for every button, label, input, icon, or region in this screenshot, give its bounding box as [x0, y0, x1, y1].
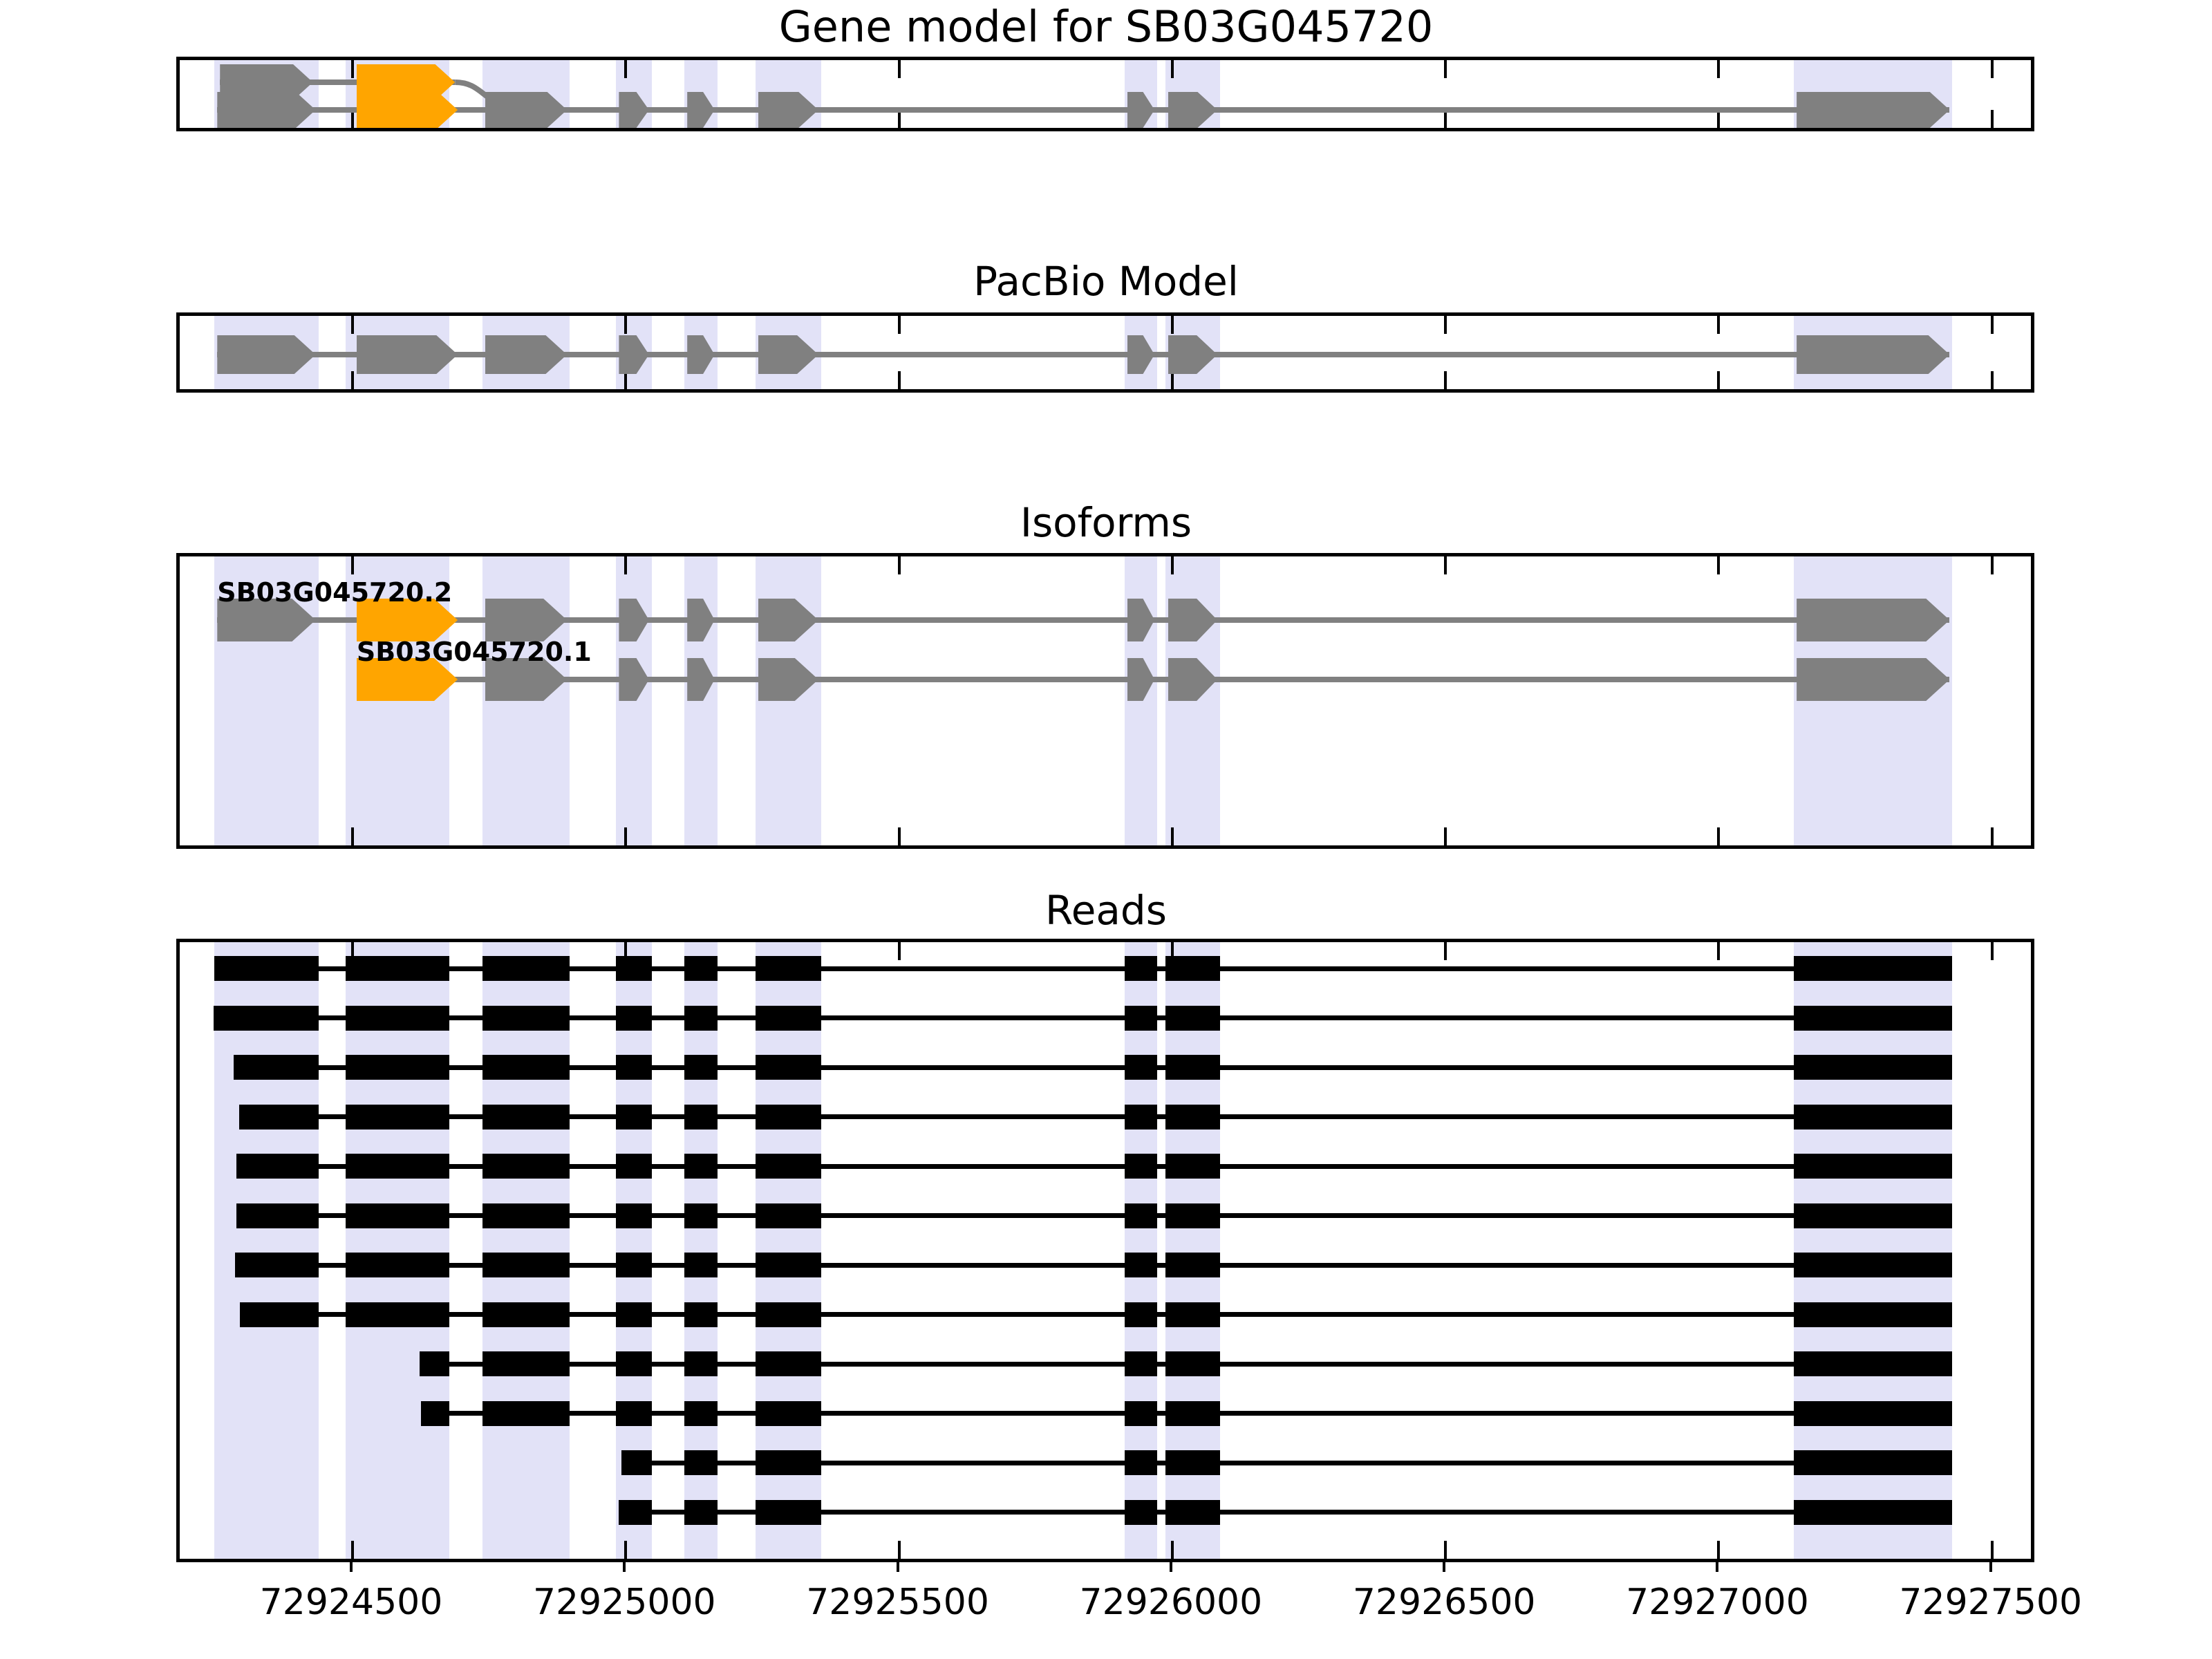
exon-block — [485, 599, 568, 641]
read-exon-block — [235, 1253, 318, 1277]
read-exon-block — [1165, 1351, 1220, 1376]
exon-arrow-shape — [687, 599, 715, 641]
read-exon-block — [616, 1302, 651, 1327]
exon-block — [1168, 658, 1217, 701]
read-exon-block — [214, 1006, 319, 1031]
panel-tick-mark — [351, 1541, 354, 1559]
highlight-band — [346, 942, 449, 1559]
axis-tick-label: 72925500 — [806, 1582, 989, 1623]
exon-block — [758, 335, 818, 374]
exon-arrow-shape — [1168, 658, 1217, 701]
read-exon-block — [756, 1203, 821, 1228]
read-exon-block — [684, 1500, 717, 1525]
panel-tick-mark — [1717, 1541, 1720, 1559]
panel-tick-mark — [1991, 942, 1994, 960]
plot-area-reads — [180, 942, 2031, 1559]
panel-tick-mark — [1991, 827, 1994, 845]
exon-arrow-shape — [619, 335, 648, 374]
read-exon-block — [1125, 1203, 1157, 1228]
read-exon-block — [1165, 1154, 1220, 1179]
exon-block — [619, 599, 648, 641]
read-exon-block — [1794, 1450, 1952, 1475]
read-exon-block — [1794, 1500, 1952, 1525]
panel-tick-mark — [351, 371, 354, 389]
panel-tick-mark — [1717, 371, 1720, 389]
exon-block — [357, 335, 458, 374]
panel-tick-mark — [898, 371, 901, 389]
panel-tick-mark — [1717, 942, 1720, 960]
panel-tick-mark — [1444, 556, 1447, 574]
axis-tick-label: 72925000 — [533, 1582, 716, 1623]
panel-tick-mark — [1717, 827, 1720, 845]
exon-arrow-shape — [485, 335, 568, 374]
panel-tick-mark — [898, 316, 901, 334]
exon-block — [1127, 599, 1155, 641]
axis-tick — [1443, 1562, 1445, 1572]
exon-block — [1168, 335, 1217, 374]
read-exon-block — [482, 1055, 570, 1080]
read-exon-block — [482, 1006, 570, 1031]
axis-tick — [350, 1562, 353, 1572]
exon-arrow-shape — [1797, 599, 1949, 641]
panel-tick-mark — [898, 1541, 901, 1559]
exon-block — [687, 335, 715, 374]
read-exon-block — [482, 1253, 570, 1277]
exon-arrow-shape — [1168, 599, 1217, 641]
read-exon-block — [756, 1450, 821, 1475]
exon-arrow-shape — [758, 658, 818, 701]
read-exon-block — [1125, 1055, 1157, 1080]
read-exon-block — [1125, 1105, 1157, 1130]
panel-tick-mark — [1171, 556, 1174, 574]
exon-arrow-shape — [758, 599, 818, 641]
read-exon-block — [1165, 1302, 1220, 1327]
read-exon-block — [616, 1351, 651, 1376]
exon-block — [485, 335, 568, 374]
read-exon-block — [756, 1154, 821, 1179]
read-exon-block — [236, 1203, 319, 1228]
read-exon-block — [1794, 956, 1952, 981]
read-intron-line — [214, 1015, 1953, 1020]
exon-arrow-shape — [1168, 335, 1217, 374]
read-exon-block — [346, 1203, 449, 1228]
axis-tick-label: 72926500 — [1353, 1582, 1536, 1623]
panel-tick-mark — [1991, 371, 1994, 389]
figure-canvas: Gene model for SB03G045720 PacBio Model … — [0, 0, 2212, 1659]
read-exon-block — [1794, 1253, 1952, 1277]
isoform-label: SB03G045720.2 — [217, 577, 452, 608]
panel-tick-mark — [351, 316, 354, 334]
read-exon-block — [1165, 1203, 1220, 1228]
exon-block — [758, 599, 818, 641]
read-exon-block — [482, 1105, 570, 1130]
panel-tick-mark — [1444, 1541, 1447, 1559]
panel-title-pacbio: PacBio Model — [0, 261, 2212, 301]
panel-tick-mark — [1444, 827, 1447, 845]
read-exon-block — [214, 956, 318, 981]
read-exon-block — [616, 1105, 651, 1130]
read-exon-block — [482, 1203, 570, 1228]
exon-block — [1797, 335, 1949, 374]
read-exon-block — [616, 1401, 651, 1426]
panel-tick-mark — [1991, 556, 1994, 574]
exon-arrow-shape — [1127, 658, 1155, 701]
read-exon-block — [621, 1450, 651, 1475]
read-intron-line — [214, 966, 1952, 971]
plot-area-isoforms: SB03G045720.2SB03G045720.1 — [180, 556, 2031, 845]
plot-area-gene-model — [180, 60, 2031, 128]
panel-tick-mark — [1717, 316, 1720, 334]
panel-gene-model — [176, 57, 2034, 131]
panel-title-isoforms: Isoforms — [0, 503, 2212, 543]
read-exon-block — [684, 1105, 717, 1130]
highlight-band — [214, 942, 318, 1559]
exon-arrow-shape — [1127, 599, 1155, 641]
read-exon-block — [346, 1302, 449, 1327]
read-exon-block — [1125, 1351, 1157, 1376]
exon-arrow-shape — [485, 599, 568, 641]
read-exon-block — [1125, 1302, 1157, 1327]
plot-area-pacbio-model — [180, 316, 2031, 389]
exon-block — [619, 658, 648, 701]
panel-tick-mark — [1171, 316, 1174, 334]
read-exon-block — [1125, 956, 1157, 981]
panel-tick-mark — [1171, 827, 1174, 845]
read-exon-block — [1794, 1351, 1952, 1376]
panel-tick-mark — [1991, 1541, 1994, 1559]
axis-tick — [1716, 1562, 1718, 1572]
read-exon-block — [616, 956, 651, 981]
read-exon-block — [1125, 1154, 1157, 1179]
read-exon-block — [1794, 1006, 1952, 1031]
axis-tick-label: 72927000 — [1626, 1582, 1809, 1623]
read-exon-block — [616, 1055, 651, 1080]
exon-block — [1168, 599, 1217, 641]
panel-tick-mark — [624, 316, 627, 334]
read-exon-block — [1165, 1105, 1220, 1130]
exon-block — [687, 658, 715, 701]
axis-tick-label: 72924500 — [260, 1582, 443, 1623]
panel-tick-mark — [624, 827, 627, 845]
axis-tick-label: 72926000 — [1080, 1582, 1263, 1623]
exon-arrow-shape — [1797, 335, 1949, 374]
read-exon-block — [616, 1006, 651, 1031]
axis-tick — [623, 1562, 626, 1572]
read-exon-block — [756, 1351, 821, 1376]
read-exon-block — [1794, 1203, 1952, 1228]
read-exon-block — [421, 1401, 449, 1426]
read-exon-block — [346, 1006, 449, 1031]
read-exon-block — [1165, 956, 1220, 981]
read-exon-block — [482, 1351, 570, 1376]
read-exon-block — [684, 1401, 717, 1426]
intron-line — [217, 617, 1949, 623]
panel-tick-mark — [898, 556, 901, 574]
read-exon-block — [684, 1006, 717, 1031]
exon-arrow-shape — [687, 335, 715, 374]
panel-tick-mark — [351, 556, 354, 574]
read-exon-block — [756, 956, 821, 981]
panel-tick-mark — [1717, 556, 1720, 574]
read-exon-block — [420, 1351, 449, 1376]
exon-block — [758, 658, 818, 701]
exon-block — [217, 335, 315, 374]
panel-pacbio-model — [176, 312, 2034, 393]
read-exon-block — [1794, 1401, 1952, 1426]
panel-reads — [176, 939, 2034, 1562]
read-exon-block — [1794, 1055, 1952, 1080]
read-exon-block — [684, 956, 717, 981]
read-exon-block — [616, 1203, 651, 1228]
panel-tick-mark — [1444, 371, 1447, 389]
read-exon-block — [756, 1105, 821, 1130]
read-exon-block — [236, 1154, 319, 1179]
axis-tick — [1989, 1562, 1992, 1572]
read-exon-block — [684, 1055, 717, 1080]
exon-arrow-shape — [619, 658, 648, 701]
panel-tick-mark — [1444, 942, 1447, 960]
read-exon-block — [234, 1055, 319, 1080]
read-exon-block — [239, 1105, 319, 1130]
isoform-label: SB03G045720.1 — [357, 637, 592, 667]
read-exon-block — [1165, 1055, 1220, 1080]
splice-connector — [180, 60, 2034, 131]
exon-block — [619, 335, 648, 374]
read-exon-block — [482, 1154, 570, 1179]
read-exon-block — [756, 1401, 821, 1426]
read-exon-block — [240, 1302, 319, 1327]
read-exon-block — [482, 1401, 570, 1426]
intron-line — [217, 352, 1949, 357]
exon-arrow-shape — [1127, 335, 1155, 374]
panel-tick-mark — [624, 556, 627, 574]
read-exon-block — [756, 1302, 821, 1327]
read-exon-block — [684, 1154, 717, 1179]
exon-arrow-shape — [619, 599, 648, 641]
read-exon-block — [1165, 1006, 1220, 1031]
exon-block — [1127, 335, 1155, 374]
read-exon-block — [1165, 1500, 1220, 1525]
panel-tick-mark — [1991, 316, 1994, 334]
panel-tick-mark — [1171, 1541, 1174, 1559]
read-exon-block — [346, 1154, 449, 1179]
panel-tick-mark — [898, 827, 901, 845]
axis-tick-label: 72927500 — [1899, 1582, 2082, 1623]
read-exon-block — [684, 1450, 717, 1475]
panel-tick-mark — [624, 1541, 627, 1559]
exon-block — [1797, 599, 1949, 641]
figure-title: Gene model for SB03G045720 — [0, 6, 2212, 48]
read-exon-block — [1794, 1105, 1952, 1130]
exon-arrow-shape — [357, 335, 458, 374]
read-exon-block — [616, 1154, 651, 1179]
read-exon-block — [1125, 1450, 1157, 1475]
axis-tick — [1170, 1562, 1172, 1572]
read-exon-block — [616, 1253, 651, 1277]
exon-block — [687, 599, 715, 641]
read-exon-block — [756, 1055, 821, 1080]
read-exon-block — [1165, 1401, 1220, 1426]
read-exon-block — [1125, 1253, 1157, 1277]
exon-block — [1127, 658, 1155, 701]
read-exon-block — [684, 1203, 717, 1228]
read-exon-block — [482, 956, 570, 981]
read-exon-block — [1125, 1401, 1157, 1426]
panel-isoforms: SB03G045720.2SB03G045720.1 — [176, 553, 2034, 849]
read-exon-block — [684, 1302, 717, 1327]
read-exon-block — [346, 1055, 449, 1080]
read-exon-block — [684, 1351, 717, 1376]
panel-tick-mark — [898, 942, 901, 960]
read-exon-block — [684, 1253, 717, 1277]
read-exon-block — [346, 1105, 449, 1130]
read-exon-block — [1794, 1154, 1952, 1179]
read-exon-block — [1165, 1450, 1220, 1475]
exon-arrow-shape — [1797, 658, 1949, 701]
read-intron-line — [621, 1461, 1952, 1465]
read-exon-block — [756, 1006, 821, 1031]
exon-arrow-shape — [687, 658, 715, 701]
panel-tick-mark — [351, 827, 354, 845]
read-exon-block — [1165, 1253, 1220, 1277]
panel-tick-mark — [1444, 316, 1447, 334]
read-exon-block — [1794, 1302, 1952, 1327]
highlight-band — [482, 942, 570, 1559]
read-exon-block — [482, 1302, 570, 1327]
read-exon-block — [756, 1500, 821, 1525]
read-exon-block — [346, 956, 449, 981]
axis-tick — [897, 1562, 899, 1572]
read-exon-block — [756, 1253, 821, 1277]
exon-block — [1797, 658, 1949, 701]
read-exon-block — [1125, 1500, 1157, 1525]
read-exon-block — [1125, 1006, 1157, 1031]
exon-arrow-shape — [758, 335, 818, 374]
panel-title-reads: Reads — [0, 890, 2212, 930]
read-exon-block — [619, 1500, 651, 1525]
exon-arrow-shape — [217, 335, 315, 374]
read-exon-block — [346, 1253, 449, 1277]
